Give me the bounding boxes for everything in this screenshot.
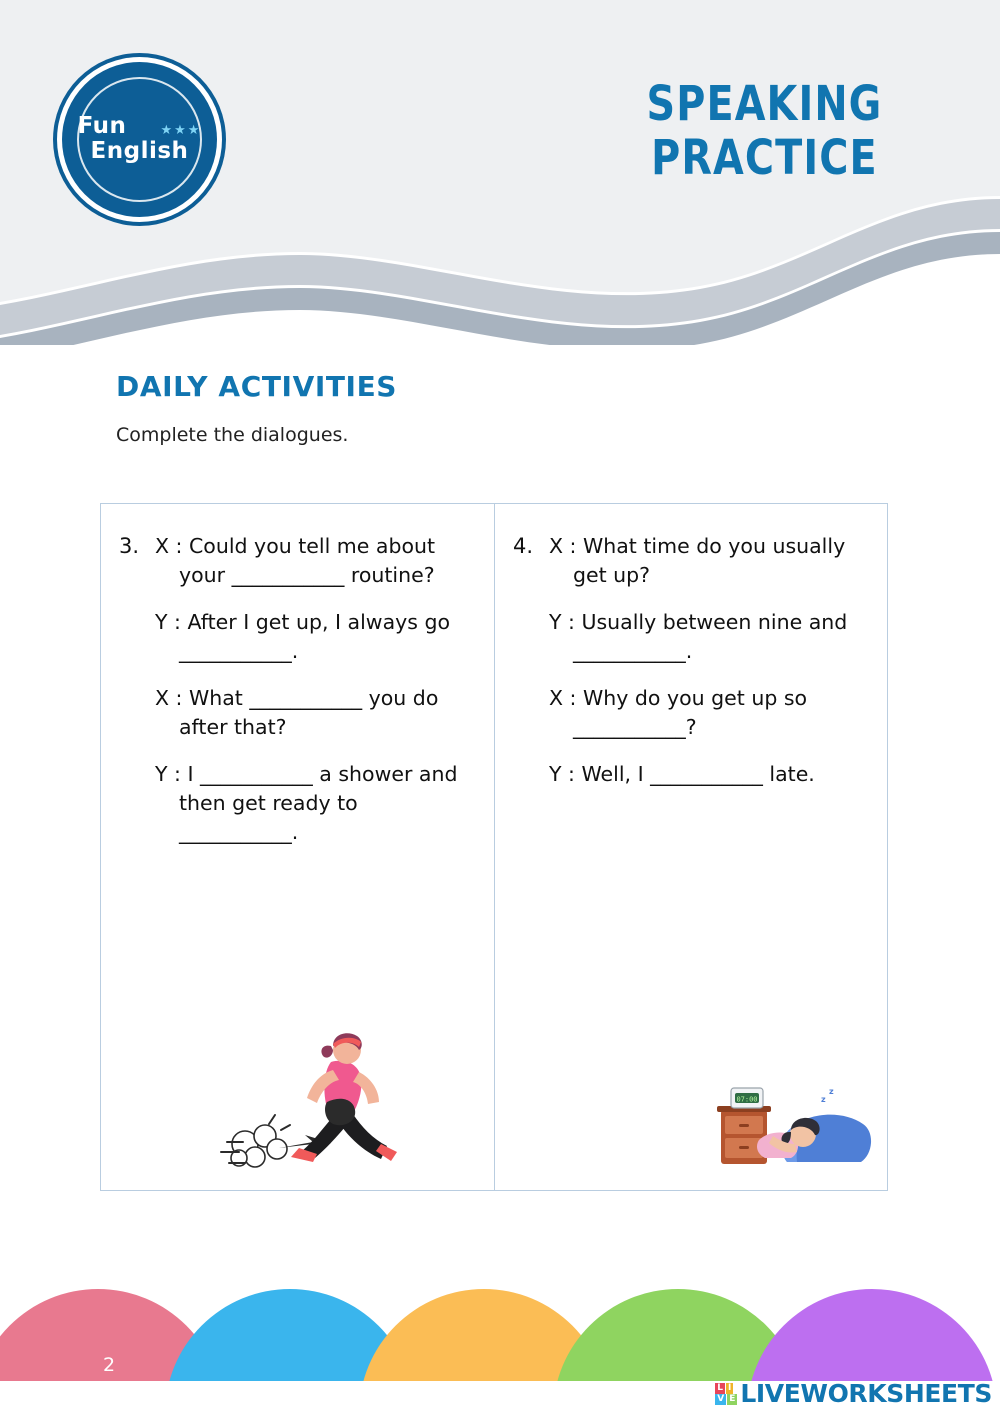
page-number: 2 (103, 1354, 115, 1376)
svg-text:z: z (829, 1087, 834, 1096)
logo-inner-circle: Fun ★★★ English (77, 77, 202, 202)
stars-icon: ★★★ (160, 124, 201, 137)
dialogue-line: X : What time do you usually get up? (549, 532, 865, 590)
exercise-panels: 3. X : Could you tell me about your ____… (100, 503, 888, 1191)
svg-text:07:00: 07:00 (736, 1096, 757, 1104)
dialogue-line: X : Why do you get up so ___________? (549, 684, 865, 742)
dialogue-line: Y : Well, I ___________ late. (549, 760, 865, 789)
section-title: DAILY ACTIVITIES (116, 370, 397, 403)
svg-text:z: z (821, 1095, 826, 1104)
exercise-panel-3: 3. X : Could you tell me about your ____… (101, 504, 494, 1190)
liveworksheets-brand[interactable]: L I V E LIVEWORKSHEETS (715, 1379, 992, 1408)
sleeping-woman-alarm-clock-illustration: 07:00 z z (717, 1082, 877, 1176)
badge-letter-i: I (726, 1383, 733, 1394)
badge-letter-l: L (715, 1383, 725, 1394)
liveworksheets-badge-icon: L I V E (715, 1383, 737, 1405)
worksheet-title: SPEAKING PRACTICE (646, 78, 882, 186)
worksheet-title-line1: SPEAKING (646, 78, 882, 132)
logo-top-row: Fun ★★★ (78, 114, 202, 138)
dialogue-line: Y : After I get up, I always go ________… (155, 608, 472, 666)
page-header: Fun ★★★ English SPEAKING PRACTICE (0, 0, 1000, 345)
dialogue-line: X : What ___________ you do after that? (155, 684, 472, 742)
exercise-number-4: 4. (513, 534, 533, 558)
dialogue-line: Y : Usually between nine and ___________… (549, 608, 865, 666)
exercise-panel-4: 4. X : What time do you usually get up? … (494, 504, 887, 1190)
badge-letter-v: V (715, 1394, 726, 1405)
page-footer: 2 L I V E LIVEWORKSHEETS (0, 1259, 1000, 1414)
liveworksheets-wordmark: LIVEWORKSHEETS (740, 1379, 992, 1408)
dialogue-line: X : Could you tell me about your _______… (155, 532, 472, 590)
exercise-number-3: 3. (119, 534, 139, 558)
exercise-lines-3: X : Could you tell me about your _______… (155, 532, 472, 847)
fun-english-logo: Fun ★★★ English (62, 62, 217, 217)
logo-text-fun: Fun (78, 114, 127, 138)
exercise-lines-4: X : What time do you usually get up? Y :… (549, 532, 865, 789)
dialogue-line: Y : I ___________ a shower and then get … (155, 760, 472, 847)
running-woman-illustration (219, 1016, 429, 1180)
badge-letter-e: E (727, 1394, 737, 1405)
worksheet-title-line2: PRACTICE (646, 132, 882, 186)
section-instruction: Complete the dialogues. (116, 424, 348, 446)
logo-text-english: English (91, 138, 189, 164)
